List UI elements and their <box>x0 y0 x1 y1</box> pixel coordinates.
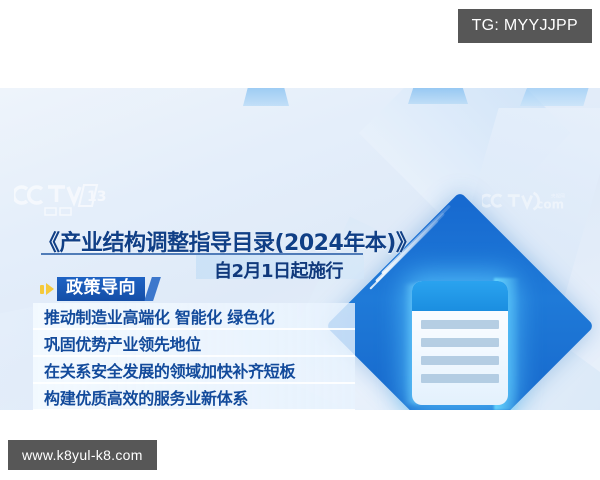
list-item-label: 构建优质高效的服务业新体系 <box>44 385 248 409</box>
list-item: 在关系安全发展的领域加快补齐短板 <box>33 357 355 384</box>
policy-section-label: 政策导向 <box>57 277 145 301</box>
background-facet-shape <box>408 88 468 104</box>
list-item-label: 巩固优势产业领先地位 <box>44 331 201 355</box>
list-item: 推动制造业高端化 智能化 绿色化 <box>33 303 355 330</box>
top-right-watermark: TG: MYYJJPP <box>458 9 592 43</box>
svg-text:央视网: 央视网 <box>551 192 565 199</box>
list-item: 构建优质高效的服务业新体系 <box>33 384 355 410</box>
background-facet-shape <box>243 88 289 106</box>
document-lines-icon <box>412 281 508 405</box>
banner-slash-accent <box>144 277 161 301</box>
bottom-left-watermark: www.k8yul-k8.com <box>8 440 157 470</box>
policy-list: 推动制造业高端化 智能化 绿色化 巩固优势产业领先地位 在关系安全发展的领域加快… <box>33 303 355 410</box>
policy-section-banner: 政策导向 <box>40 277 157 301</box>
cctv13-logo: 13 <box>14 180 106 216</box>
document-line <box>421 374 499 383</box>
cctvcom-logo: com 央视网 <box>482 190 574 216</box>
svg-text:13: 13 <box>87 189 106 205</box>
list-item-label: 在关系安全发展的领域加快补齐短板 <box>44 358 295 382</box>
document-body <box>412 311 508 383</box>
document-line <box>421 356 499 365</box>
document-line <box>421 338 499 347</box>
document-line <box>421 320 499 329</box>
video-frame: 13 com 央视网 《产业结构调整指导目录(2024年本)》 自2月1日起施行… <box>0 88 600 410</box>
background-facet-shape <box>520 88 592 106</box>
subtitle: 自2月1日起施行 <box>214 257 343 283</box>
svg-text:com: com <box>536 198 564 212</box>
document-header-band <box>412 281 508 311</box>
list-item-label: 推动制造业高端化 智能化 绿色化 <box>44 304 274 328</box>
arrow-marker-icon <box>40 282 55 297</box>
list-item: 巩固优势产业领先地位 <box>33 330 355 357</box>
